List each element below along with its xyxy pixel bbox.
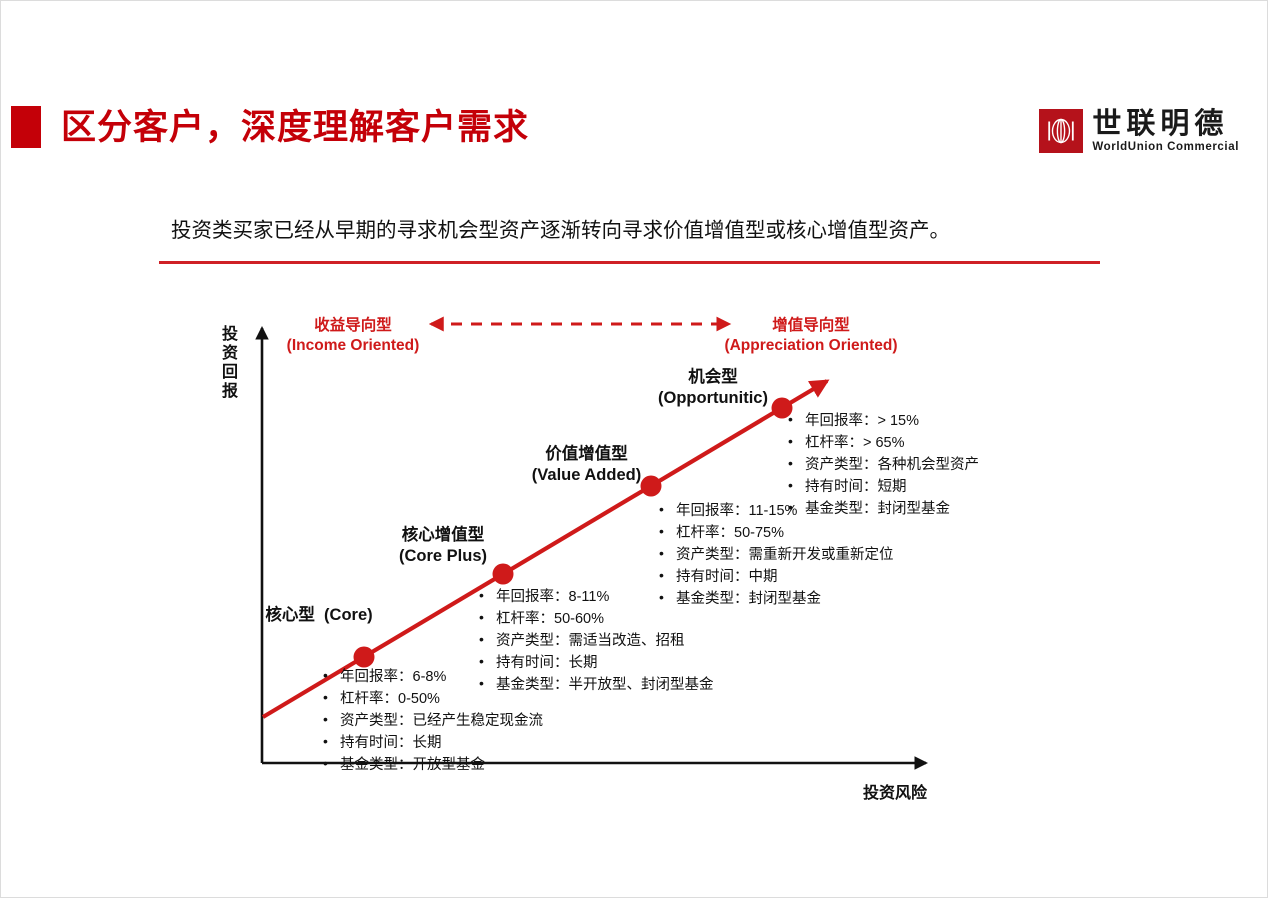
list-item: 持有时间：长期 (323, 732, 543, 754)
label-core-plus: 核心增值型 (Core Plus) (373, 525, 513, 567)
appreciation-oriented-en: (Appreciation Oriented) (711, 336, 911, 356)
y-axis-label: 投 资 回 报 (219, 326, 241, 402)
list-item: 持有时间：短期 (788, 476, 979, 498)
list-item: 基金类型：半开放型、封闭型基金 (479, 674, 714, 696)
label-core-cn: 核心型 (265, 606, 315, 624)
label-value-added: 价值增值型 (Value Added) (509, 444, 664, 486)
list-item: 年回报率：> 15% (788, 410, 979, 432)
label-core-plus-cn: 核心增值型 (373, 525, 513, 546)
list-item: 杠杆率：50-75% (659, 522, 894, 544)
data-point-core (354, 647, 375, 668)
label-core-en: (Core) (324, 606, 373, 624)
y-axis-label-char-3: 报 (219, 383, 241, 402)
list-item: 基金类型：封闭型基金 (659, 588, 894, 610)
list-item: 资产类型：各种机会型资产 (788, 454, 979, 476)
appreciation-oriented-label: 增值导向型 (Appreciation Oriented) (711, 316, 911, 356)
list-item: 持有时间：中期 (659, 566, 894, 588)
appreciation-oriented-cn: 增值导向型 (711, 316, 911, 336)
list-item: 基金类型：开放型基金 (323, 754, 543, 776)
list-item: 杠杆率：50-60% (479, 608, 714, 630)
label-core: 核心型 (Core) (249, 605, 389, 626)
details-opportunistic: 年回报率：> 15% 杠杆率：> 65% 资产类型：各种机会型资产 持有时间：短… (788, 410, 979, 520)
list-item: 基金类型：封闭型基金 (788, 498, 979, 520)
label-value-added-cn: 价值增值型 (509, 444, 664, 465)
list-item: 资产类型：需重新开发或重新定位 (659, 544, 894, 566)
label-core-plus-en: (Core Plus) (373, 546, 513, 567)
y-axis-label-char-2: 回 (219, 364, 241, 383)
y-axis-label-char-1: 资 (219, 345, 241, 364)
income-oriented-label: 收益导向型 (Income Oriented) (253, 316, 453, 356)
x-axis-label: 投资风险 (863, 779, 927, 803)
label-opportunistic: 机会型 (Opportunitic) (628, 367, 798, 409)
investment-risk-return-chart: 投 资 回 报 投资风险 收益导向型 (Income Oriented) 增值导… (1, 1, 1268, 898)
list-item: 资产类型：已经产生稳定现金流 (323, 710, 543, 732)
y-axis-label-char-0: 投 (219, 326, 241, 345)
list-item: 资产类型：需适当改造、招租 (479, 630, 714, 652)
label-opportunistic-cn: 机会型 (628, 367, 798, 388)
slide: 区分客户，深度理解客户需求 世联明德 WorldUnion Commercial… (0, 0, 1268, 898)
list-item: 持有时间：长期 (479, 652, 714, 674)
list-item: 杠杆率：> 65% (788, 432, 979, 454)
label-opportunistic-en: (Opportunitic) (628, 388, 798, 409)
label-value-added-en: (Value Added) (509, 465, 664, 486)
income-oriented-cn: 收益导向型 (253, 316, 453, 336)
income-oriented-en: (Income Oriented) (253, 336, 453, 356)
